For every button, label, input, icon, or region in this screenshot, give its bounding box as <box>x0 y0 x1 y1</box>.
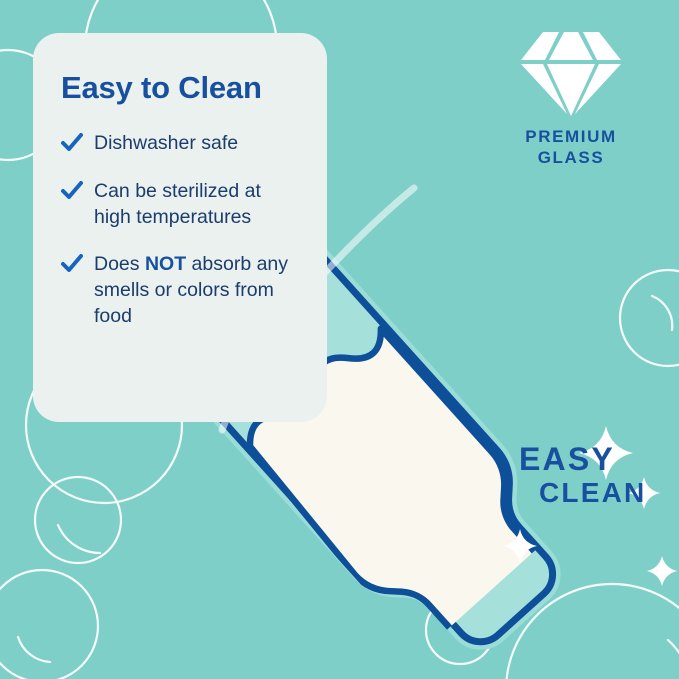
product-feature-infographic: Easy to Clean Dishwasher safe Can be ste… <box>0 0 679 679</box>
check-icon <box>61 254 83 274</box>
easy-clean-line-2: CLEAN <box>519 475 646 510</box>
list-item-label: Can be sterilized at high temperatures <box>94 180 261 228</box>
feature-list: Dishwasher safe Can be sterilized at hig… <box>61 131 303 329</box>
sparkle-icon <box>503 529 537 563</box>
premium-badge-line-2: GLASS <box>498 147 644 168</box>
diamond-icon <box>519 30 623 118</box>
check-icon <box>61 133 83 153</box>
page-title: Easy to Clean <box>61 71 303 105</box>
list-item: Can be sterilized at high temperatures <box>61 179 303 230</box>
list-item-label: Dishwasher safe <box>94 132 238 154</box>
sparkle-icon <box>647 556 677 586</box>
check-icon <box>61 181 83 201</box>
feature-card: Easy to Clean Dishwasher safe Can be ste… <box>33 33 327 422</box>
easy-clean-line-1: EASY <box>519 443 646 475</box>
list-item-label-emphasis: NOT <box>145 253 186 275</box>
premium-glass-badge: PREMIUM GLASS <box>498 30 644 169</box>
premium-badge-line-1: PREMIUM <box>498 126 644 147</box>
list-item: Dishwasher safe <box>61 131 303 157</box>
easy-clean-lockup: EASY CLEAN <box>519 443 646 510</box>
list-item-label-prefix: Does <box>94 253 145 275</box>
list-item: Does NOT absorb any smells or colors fro… <box>61 252 303 329</box>
